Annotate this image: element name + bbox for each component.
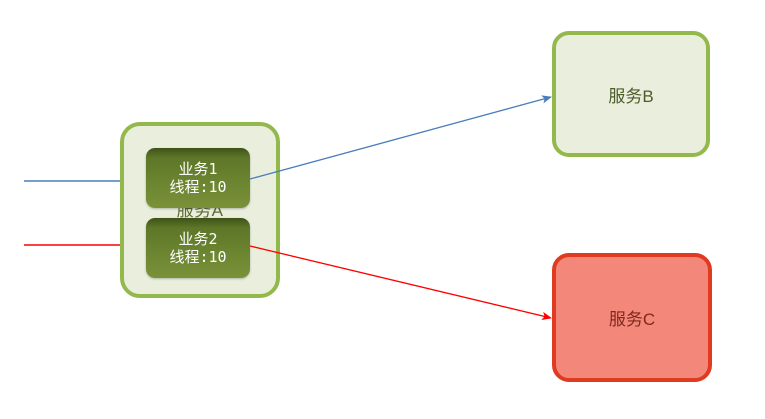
task-2-name: 业务2 bbox=[178, 230, 217, 248]
task-2-threads: 线程:10 bbox=[169, 248, 226, 266]
service-c-node[interactable]: 服务C bbox=[552, 253, 712, 382]
edge-service-a-to-service-b bbox=[250, 97, 551, 179]
task-1-threads: 线程:10 bbox=[169, 178, 226, 196]
service-b-node[interactable]: 服务B bbox=[552, 31, 710, 157]
service-b-label: 服务B bbox=[608, 82, 653, 107]
task-box-1[interactable]: 业务1 线程:10 bbox=[146, 148, 250, 208]
service-c-label: 服务C bbox=[609, 305, 655, 330]
edge-service-a-to-service-c bbox=[250, 246, 551, 318]
diagram-canvas: 服务A 业务1 线程:10 业务2 线程:10 服务B 服务C bbox=[0, 0, 765, 419]
task-1-name: 业务1 bbox=[178, 160, 217, 178]
task-box-2[interactable]: 业务2 线程:10 bbox=[146, 218, 250, 278]
